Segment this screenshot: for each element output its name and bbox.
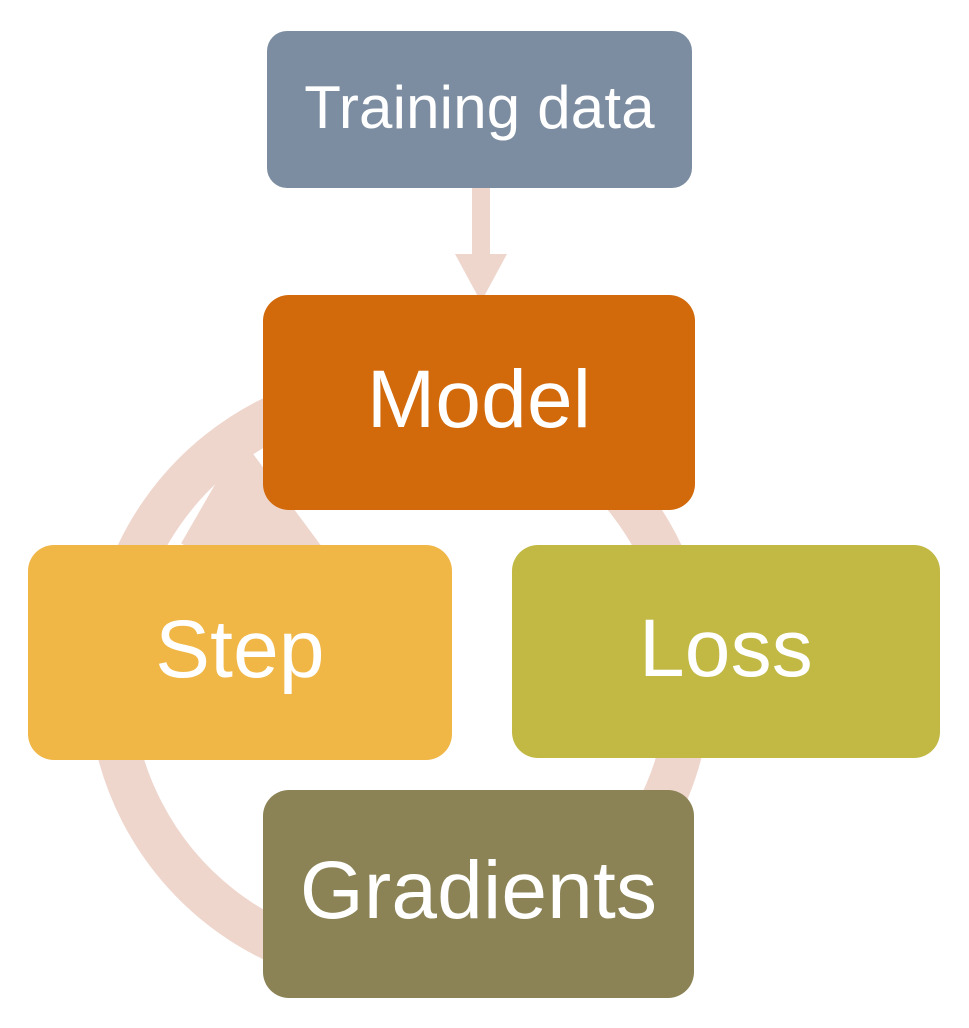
node-gradients[interactable]: Gradients <box>263 790 694 998</box>
node-model[interactable]: Model <box>263 295 695 510</box>
node-training-data-label: Training data <box>304 78 655 138</box>
node-loss[interactable]: Loss <box>512 545 940 758</box>
node-training-data[interactable]: Training data <box>267 31 692 188</box>
node-gradients-label: Gradients <box>300 850 657 932</box>
feed-arrow <box>440 180 540 305</box>
node-step[interactable]: Step <box>28 545 452 760</box>
node-step-label: Step <box>155 609 325 691</box>
feed-arrow-shape <box>455 180 507 302</box>
node-loss-label: Loss <box>639 608 813 690</box>
diagram-canvas: Training data Model Loss Gradients Step <box>0 0 969 1028</box>
node-model-label: Model <box>367 359 591 441</box>
